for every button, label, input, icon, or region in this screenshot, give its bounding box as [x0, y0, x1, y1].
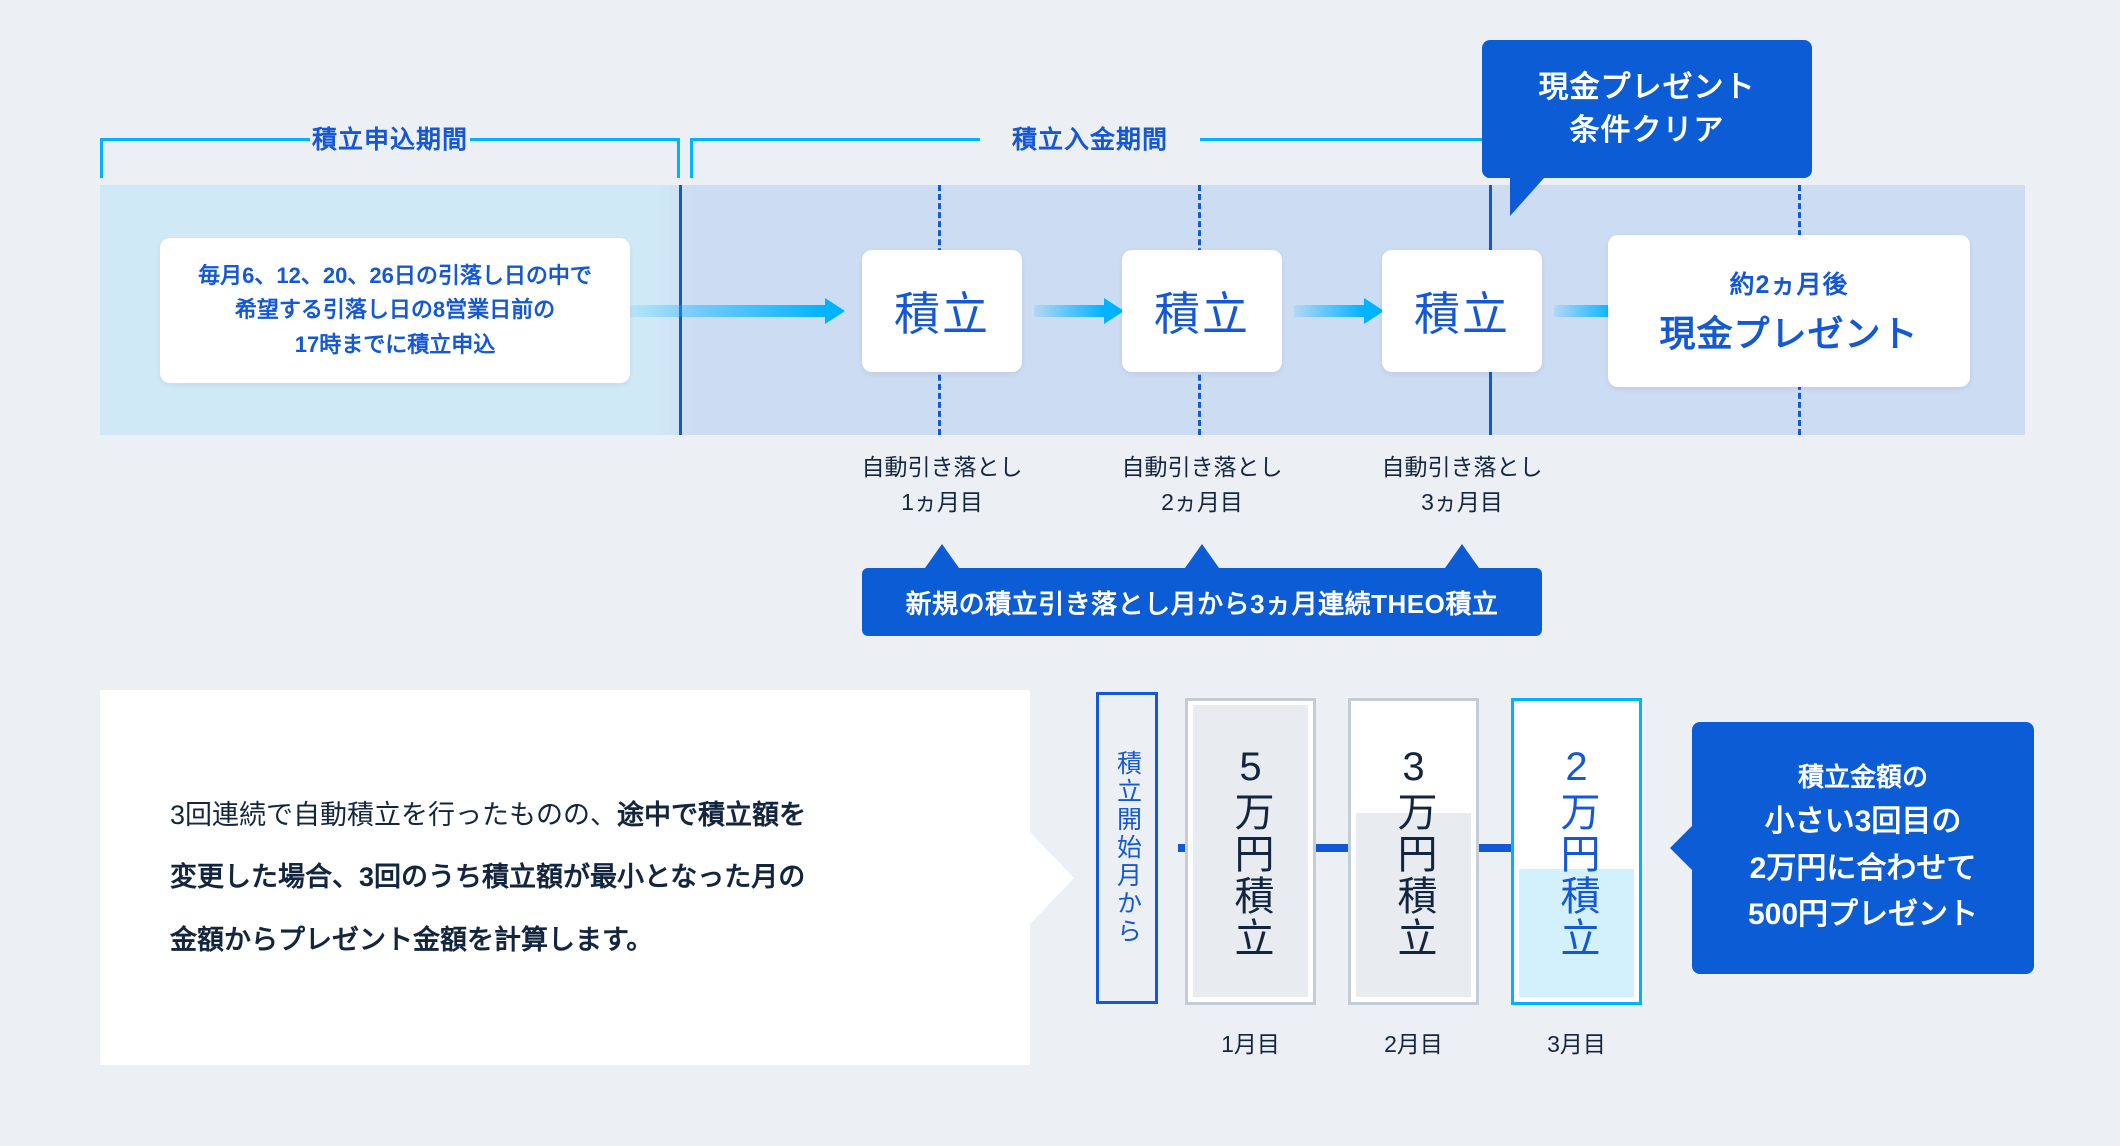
- application-line-2: 希望する引落し日の8営業日前の: [235, 293, 555, 327]
- bar-caption-1: 1月目: [1185, 1025, 1316, 1059]
- bracket-deposit-period: 積立入金期間: [690, 120, 1490, 160]
- step-box-3-label: 積立: [1414, 278, 1510, 344]
- application-line-1: 毎月6、12、20、26日の引落し日の中で: [198, 259, 592, 293]
- cash-prize-callout: 現金プレゼント 条件クリア: [1482, 40, 1812, 178]
- banner-notch-1: [925, 544, 959, 568]
- callout-tail: [1510, 178, 1544, 216]
- application-line-3: 17時までに積立申込: [295, 328, 495, 362]
- bar-caption-3: 3月目: [1511, 1025, 1642, 1059]
- arrow-shaft: [1294, 305, 1364, 317]
- prize-card-title: 現金プレゼント: [1659, 305, 1918, 357]
- bracket-line-right: [1200, 138, 1490, 141]
- bar-month-2: 3万円積立: [1348, 698, 1479, 1005]
- condition-banner-text: 新規の積立引き落とし月から3ヵ月連続THEO積立: [906, 584, 1499, 621]
- callout-line-1: 現金プレゼント: [1539, 66, 1756, 110]
- bar-caption-2: 2月目: [1348, 1025, 1479, 1059]
- step-box-2-label: 積立: [1154, 278, 1250, 344]
- step-box-1-label: 積立: [894, 278, 990, 344]
- bracket-application-period: 積立申込期間: [100, 120, 680, 160]
- month-label-2: 自動引き落とし 2ヵ月目: [1102, 450, 1302, 519]
- month-label-2-line2: 2ヵ月目: [1102, 485, 1302, 520]
- explanation-bold-3: 金額からプレゼント金額を計算します。: [170, 925, 653, 955]
- arrow-head: [1104, 298, 1124, 324]
- month-label-1-line1: 自動引き落とし: [842, 450, 1042, 485]
- bar-month-3-label: 2万円積立: [1514, 701, 1639, 1002]
- application-info-card: 毎月6、12、20、26日の引落し日の中で 希望する引落し日の8営業日前の 17…: [160, 238, 630, 383]
- bracket-tick-right: [677, 138, 680, 178]
- chart-start-label: 積立開始月から: [1096, 692, 1158, 1004]
- prize-card-subtitle: 約2ヵ月後: [1730, 265, 1849, 301]
- bracket-line-right: [470, 138, 680, 141]
- arrow-step2-step3: [1294, 298, 1384, 324]
- connector-bar2-bar3: [1479, 844, 1513, 852]
- month-label-1-line2: 1ヵ月目: [842, 485, 1042, 520]
- month-label-1: 自動引き落とし 1ヵ月目: [842, 450, 1042, 519]
- arrow-shaft: [1034, 305, 1104, 317]
- bar-month-2-label: 3万円積立: [1351, 701, 1476, 1002]
- prize-card: 約2ヵ月後 現金プレゼント: [1608, 235, 1970, 387]
- bar-month-3: 2万円積立: [1511, 698, 1642, 1005]
- prize-amount-note: 積立金額の 小さい3回目の 2万円に合わせて 500円プレゼント: [1692, 722, 2034, 974]
- explanation-card: 3回連続で自動積立を行ったものの、途中で積立額を 変更した場合、3回のうち積立額…: [100, 690, 1030, 1065]
- bar-month-1-label: 5万円積立: [1188, 701, 1313, 1002]
- arrow-shaft: [630, 305, 825, 317]
- explanation-line-3: 金額からプレゼント金額を計算します。: [170, 909, 806, 971]
- callout-line-2: 条件クリア: [1570, 109, 1725, 153]
- note-line-1: 積立金額の: [1798, 757, 1928, 799]
- chart-start-notch: [1158, 826, 1178, 870]
- arrow-step1-step2: [1034, 298, 1124, 324]
- explanation-line-2: 変更した場合、3回のうち積立額が最小となった月の: [170, 846, 806, 908]
- connector-bar1-bar2: [1316, 844, 1350, 852]
- explanation-normal: 3回連続で自動積立を行ったものの、: [170, 800, 617, 830]
- chart-start-label-text: 積立開始月から: [1115, 750, 1140, 946]
- explanation-text: 3回連続で自動積立を行ったものの、途中で積立額を 変更した場合、3回のうち積立額…: [100, 784, 806, 970]
- month-label-3-line1: 自動引き落とし: [1362, 450, 1562, 485]
- month-label-2-line1: 自動引き落とし: [1102, 450, 1302, 485]
- explanation-bold-2: 変更した場合、3回のうち積立額が最小となった月の: [170, 862, 805, 892]
- step-box-2: 積立: [1122, 250, 1282, 372]
- condition-banner: 新規の積立引き落とし月から3ヵ月連続THEO積立: [862, 568, 1542, 636]
- note-pointer: [1670, 826, 1692, 870]
- bracket-label: 積立入金期間: [1012, 120, 1168, 156]
- arrow-shaft: [1554, 305, 1614, 317]
- banner-notch-2: [1185, 544, 1219, 568]
- bracket-line-left: [100, 138, 310, 141]
- step-box-1: 積立: [862, 250, 1022, 372]
- explanation-line-1: 3回連続で自動積立を行ったものの、途中で積立額を: [170, 784, 806, 846]
- explanation-pointer: [1030, 832, 1074, 924]
- month-label-3: 自動引き落とし 3ヵ月目: [1362, 450, 1562, 519]
- bar-month-1: 5万円積立: [1185, 698, 1316, 1005]
- note-line-3: 2万円に合わせて: [1750, 846, 1977, 893]
- explanation-bold-1: 途中で積立額を: [617, 800, 806, 830]
- step-box-3: 積立: [1382, 250, 1542, 372]
- note-line-4: 500円プレゼント: [1748, 892, 1978, 939]
- bracket-tick-left: [690, 138, 693, 178]
- month-label-3-line2: 3ヵ月目: [1362, 485, 1562, 520]
- infographic-root: 積立申込期間 積立入金期間 毎月6、12、20、26日の引落し日の中で 希望する…: [0, 0, 2120, 1146]
- arrow-head: [825, 298, 845, 324]
- banner-notch-3: [1445, 544, 1479, 568]
- arrow-to-step-1: [630, 298, 845, 324]
- bracket-line-left: [690, 138, 980, 141]
- bracket-label: 積立申込期間: [312, 120, 468, 156]
- bracket-tick-left: [100, 138, 103, 178]
- note-line-2: 小さい3回目の: [1765, 799, 1962, 846]
- arrow-head: [1364, 298, 1384, 324]
